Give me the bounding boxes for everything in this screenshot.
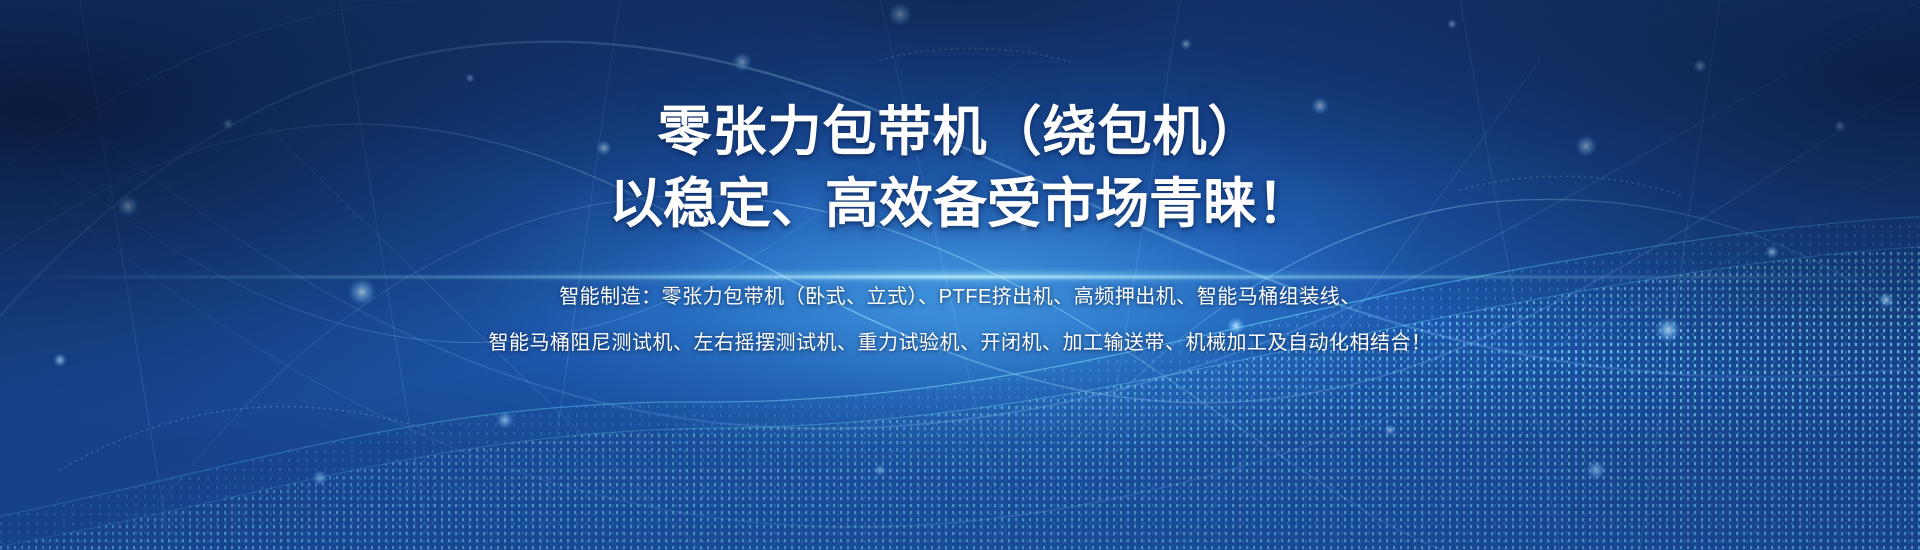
hero-banner: 零张力包带机（绕包机） 以稳定、高效备受市场青睐！ 智能制造：零张力包带机（卧式…: [0, 0, 1920, 550]
banner-headline: 零张力包带机（绕包机） 以稳定、高效备受市场青睐！: [609, 96, 1311, 240]
headline-line-2: 以稳定、高效备受市场青睐！: [609, 168, 1311, 240]
subtitle-line-2: 智能马桶阻尼测试机、左右摇摆测试机、重力试验机、开闭机、加工输送带、机械加工及自…: [489, 320, 1432, 366]
banner-subtitle: 智能制造：零张力包带机（卧式、立式）、PTFE挤出机、高频押出机、智能马桶组装线…: [489, 274, 1432, 366]
subtitle-line-1: 智能制造：零张力包带机（卧式、立式）、PTFE挤出机、高频押出机、智能马桶组装线…: [489, 274, 1432, 320]
banner-content: 零张力包带机（绕包机） 以稳定、高效备受市场青睐！ 智能制造：零张力包带机（卧式…: [0, 0, 1920, 550]
headline-line-1: 零张力包带机（绕包机）: [609, 96, 1311, 168]
